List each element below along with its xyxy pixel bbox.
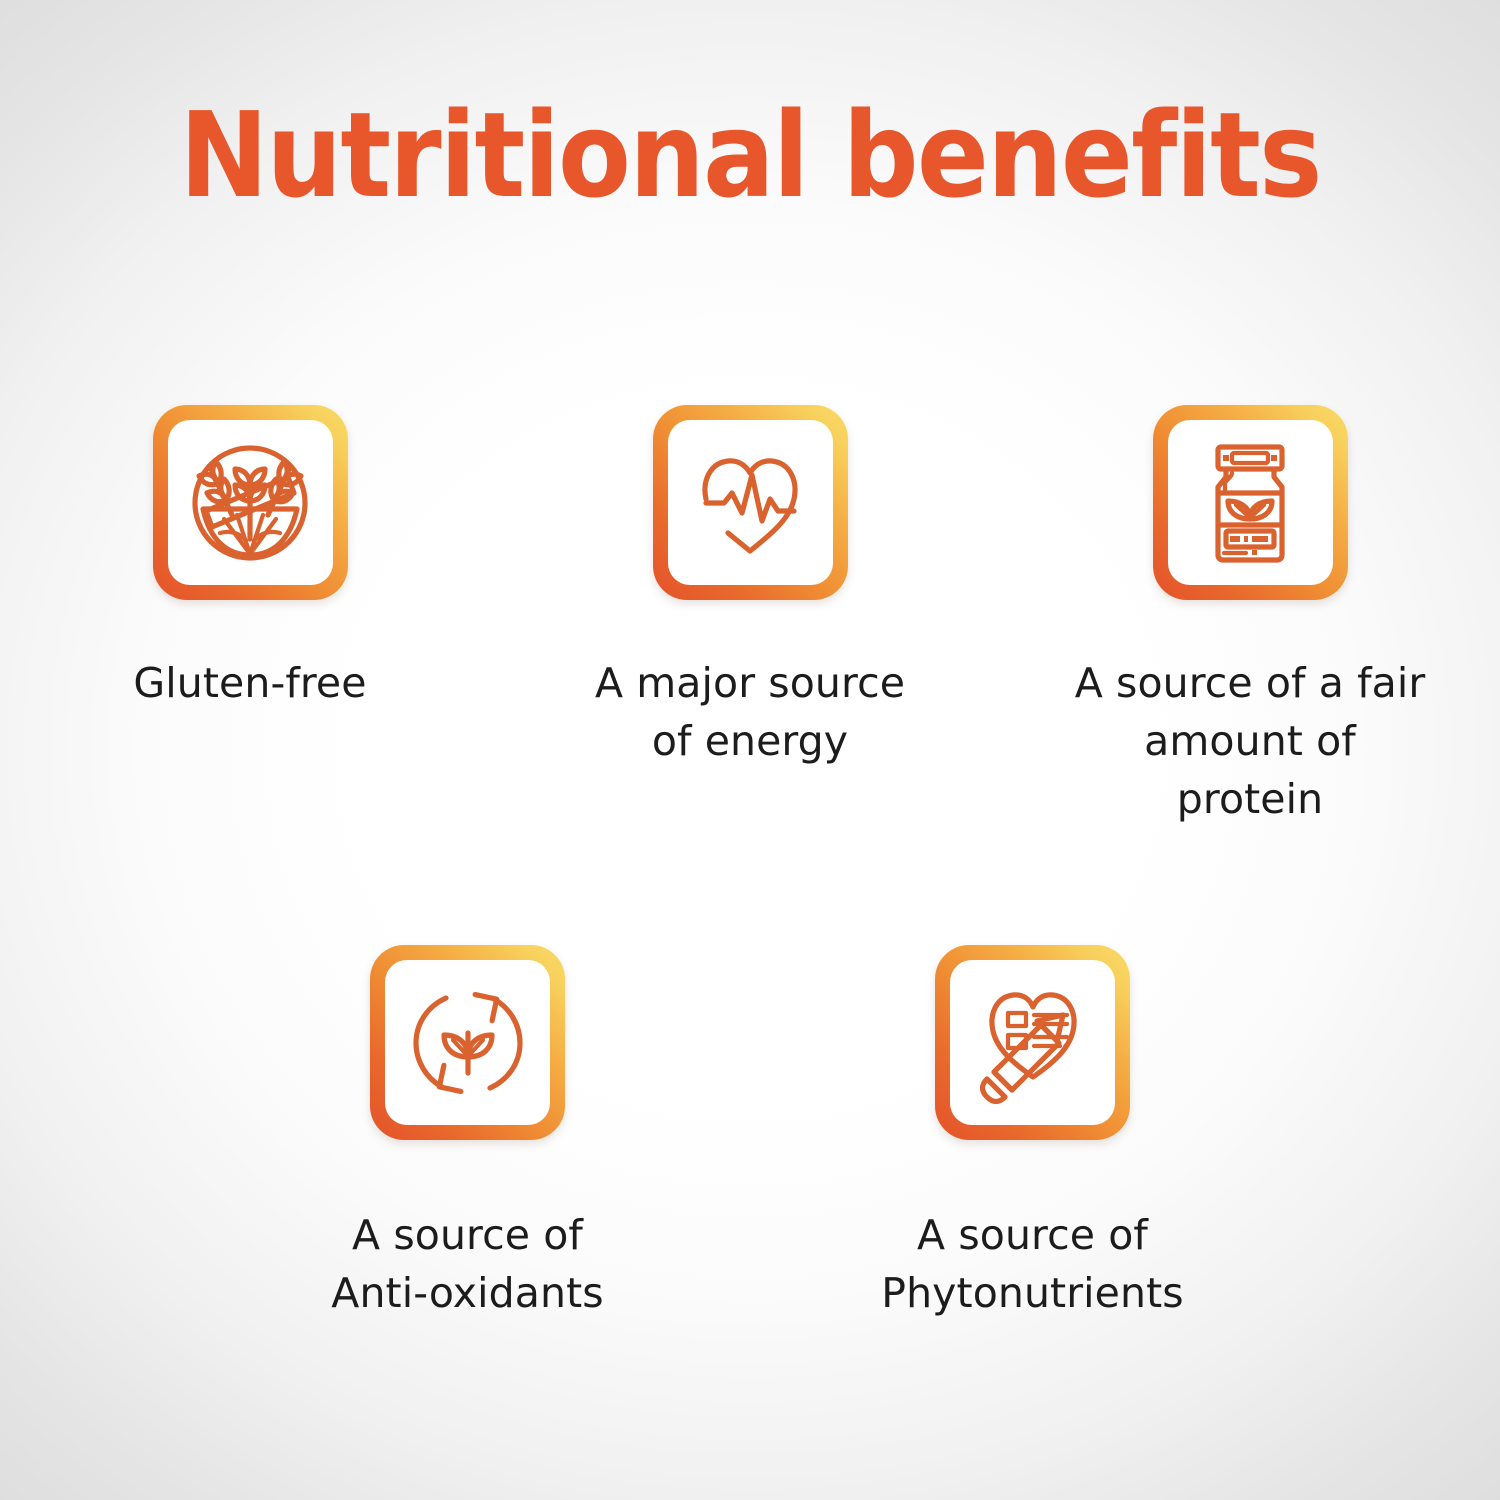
benefit-item-gluten-free: Gluten-free [0,405,500,829]
benefits-row-bottom: A source of Anti-oxidants [0,945,1500,1322]
benefit-label: Gluten-free [133,654,366,712]
benefit-icon-tile [153,405,348,600]
supplement-jar-icon [1168,420,1333,585]
benefit-item-phytonutrients: A source of Phytonutrients [750,945,1315,1322]
benefit-item-protein: A source of a fair amount of protein [1000,405,1500,829]
recycle-sprout-icon [385,960,550,1125]
benefit-icon-tile [1153,405,1348,600]
benefit-icon-tile [653,405,848,600]
page-title: Nutritional benefits [75,96,1425,214]
benefit-label: A major source of energy [595,654,905,770]
page-title-container: Nutritional benefits [0,96,1500,214]
benefit-icon-tile [935,945,1130,1140]
benefit-item-anti-oxidants: A source of Anti-oxidants [185,945,750,1322]
wheat-crossed-out-icon [168,420,333,585]
benefits-row-top: Gluten-free A major source of energy [0,405,1500,829]
benefit-item-energy: A major source of energy [500,405,1000,829]
benefit-icon-tile [370,945,565,1140]
nutritional-benefits-infographic: { "header": { "title": "Nutritional bene… [0,0,1500,1500]
benefit-label: A source of Phytonutrients [881,1206,1183,1322]
heart-pulse-icon [668,420,833,585]
benefit-label: A source of Anti-oxidants [331,1206,603,1322]
heart-checklist-pencil-icon [950,960,1115,1125]
benefit-label: A source of a fair amount of protein [1075,654,1426,829]
